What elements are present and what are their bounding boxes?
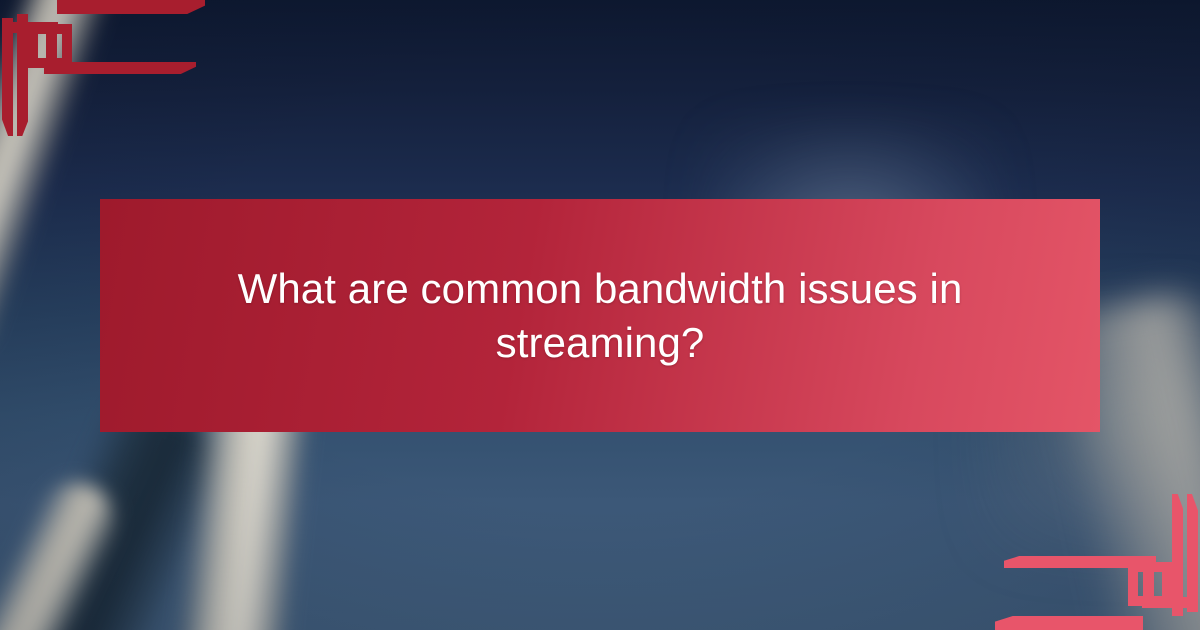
ornament-top-bar — [57, 0, 205, 14]
question-card: What are common bandwidth issues in stre… — [0, 0, 1200, 630]
headline-banner: What are common bandwidth issues in stre… — [100, 199, 1100, 432]
page-title: What are common bandwidth issues in stre… — [220, 262, 980, 370]
ornament-outer-vertical-bar — [1187, 494, 1198, 612]
ornament-square-outline — [1128, 562, 1172, 606]
ornament-outer-vertical-bar — [2, 18, 13, 136]
ornament-square-outline — [28, 24, 72, 68]
ornament-bottom-bar — [995, 616, 1143, 630]
